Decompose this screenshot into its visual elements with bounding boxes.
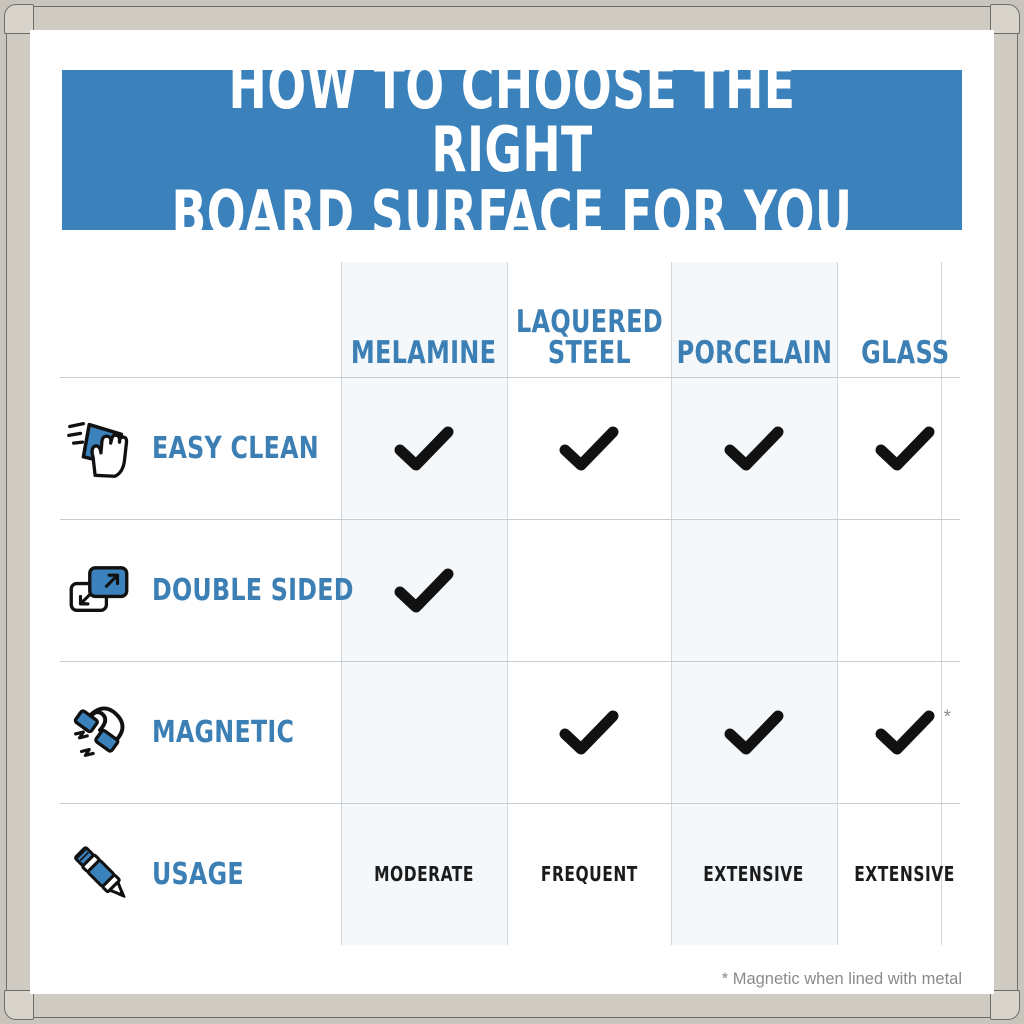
frame-corner-bottom-left xyxy=(4,990,34,1020)
table-header-row: MELAMINE LAQUERED STEEL PORCELAIN GLASS xyxy=(30,262,994,377)
row-label: USAGE xyxy=(152,857,244,892)
row-header-magnetic: MAGNETIC xyxy=(60,661,340,803)
table-row: USAGE MODERATE FREQUENT EXTENSIVE EXTENS… xyxy=(30,803,994,945)
checkmark-icon xyxy=(875,425,935,471)
frame-bottom-bar xyxy=(14,992,1010,1018)
cell-usage-glass: EXTENSIVE xyxy=(837,803,973,945)
column-header-porcelain: PORCELAIN xyxy=(671,262,837,377)
cell-double-sided-melamine xyxy=(341,519,507,661)
cell-magnetic-porcelain xyxy=(671,661,837,803)
column-header-label: MELAMINE xyxy=(351,338,496,369)
column-header-melamine: MELAMINE xyxy=(341,262,507,377)
column-header-label: PORCELAIN xyxy=(676,338,832,369)
board-surface: HOW TO CHOOSE THE RIGHT BOARD SURFACE FO… xyxy=(30,30,994,994)
cell-easy-clean-porcelain xyxy=(671,377,837,519)
checkmark-icon: * xyxy=(875,709,935,755)
asterisk-marker: * xyxy=(944,707,951,729)
frame-top-bar xyxy=(14,6,1010,32)
cell-magnetic-glass: * xyxy=(837,661,973,803)
cell-easy-clean-melamine xyxy=(341,377,507,519)
footnote: * Magnetic when lined with metal xyxy=(722,970,962,989)
usage-value: MODERATE xyxy=(374,862,474,886)
comparison-table: MELAMINE LAQUERED STEEL PORCELAIN GLASS xyxy=(30,262,994,952)
table-row: EASY CLEAN xyxy=(30,377,994,519)
row-label: DOUBLE SIDED xyxy=(152,573,354,608)
column-header-label: LAQUERED STEEL xyxy=(516,307,663,369)
page-title: HOW TO CHOOSE THE RIGHT BOARD SURFACE FO… xyxy=(143,55,881,245)
cell-usage-laquered-steel: FREQUENT xyxy=(507,803,671,945)
column-header-label: GLASS xyxy=(861,338,949,369)
cell-usage-porcelain: EXTENSIVE xyxy=(671,803,837,945)
cell-easy-clean-laquered-steel xyxy=(507,377,671,519)
column-header-laquered-steel: LAQUERED STEEL xyxy=(507,262,671,377)
cell-magnetic-melamine xyxy=(341,661,507,803)
usage-value: FREQUENT xyxy=(541,862,638,886)
cell-easy-clean-glass xyxy=(837,377,973,519)
cell-double-sided-laquered-steel xyxy=(507,519,671,661)
table-row: DOUBLE SIDED xyxy=(30,519,994,661)
row-header-double-sided: DOUBLE SIDED xyxy=(60,519,340,661)
cell-double-sided-glass xyxy=(837,519,973,661)
cell-double-sided-porcelain xyxy=(671,519,837,661)
row-header-easy-clean: EASY CLEAN xyxy=(60,377,340,519)
row-header-usage: USAGE xyxy=(60,803,340,945)
frame-corner-bottom-right xyxy=(990,990,1020,1020)
double-sided-panels-icon xyxy=(60,551,138,629)
checkmark-icon xyxy=(394,567,454,613)
row-label: MAGNETIC xyxy=(152,715,294,750)
checkmark-icon xyxy=(724,425,784,471)
usage-value: EXTENSIVE xyxy=(704,862,805,886)
checkmark-icon xyxy=(394,425,454,471)
cell-magnetic-laquered-steel xyxy=(507,661,671,803)
whiteboard-frame: HOW TO CHOOSE THE RIGHT BOARD SURFACE FO… xyxy=(0,0,1024,1024)
hand-wiping-cloth-icon xyxy=(60,409,138,487)
frame-right-bar xyxy=(992,14,1018,1010)
cell-usage-melamine: MODERATE xyxy=(341,803,507,945)
usage-value: EXTENSIVE xyxy=(855,862,956,886)
marker-pen-icon xyxy=(60,835,138,913)
frame-left-bar xyxy=(6,14,32,1010)
frame-corner-top-right xyxy=(990,4,1020,34)
table-row: MAGNETIC xyxy=(30,661,994,803)
column-header-glass: GLASS xyxy=(837,262,973,377)
title-banner: HOW TO CHOOSE THE RIGHT BOARD SURFACE FO… xyxy=(62,70,962,230)
checkmark-icon xyxy=(559,709,619,755)
checkmark-icon xyxy=(559,425,619,471)
checkmark-icon xyxy=(724,709,784,755)
horseshoe-magnet-icon xyxy=(60,693,138,771)
row-label: EASY CLEAN xyxy=(152,431,319,466)
